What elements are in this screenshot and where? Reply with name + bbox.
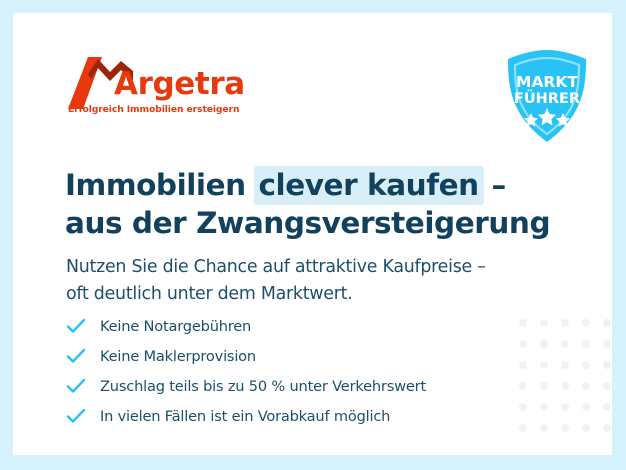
grid-dot [603,340,611,348]
banner-frame: Argetra Erfolgreich Immobilien ersteiger… [0,0,626,470]
check-icon [66,405,92,427]
headline-text-before: Immobilien [65,168,256,202]
grid-dot [582,361,590,369]
grid-dot [603,424,611,432]
check-icon [66,345,92,367]
check-icon [66,315,92,337]
badge-line-1: MARKT [516,73,578,91]
list-item: In vielen Fällen ist ein Vorabkauf mögli… [66,401,566,431]
grid-dot [603,361,611,369]
headline-text-after: – [482,168,506,202]
list-item: Keine Maklerprovision [66,341,566,371]
benefits-list: Keine Notargebühren Keine Maklerprovisio… [66,311,566,431]
grid-dot [582,340,590,348]
subheadline: Nutzen Sie die Chance auf attraktive Kau… [66,254,586,307]
list-item-label: Zuschlag teils bis zu 50 % unter Verkehr… [92,378,426,395]
grid-dot [582,382,590,390]
logo-tagline: Erfolgreich Immobilien ersteigern [68,104,239,115]
headline-line-1: Immobilien clever kaufen – [65,166,585,204]
argetra-logo[interactable]: Argetra Erfolgreich Immobilien ersteiger… [68,57,268,123]
grid-dot [603,319,611,327]
grid-dot [582,403,590,411]
badge-line-2: FÜHRER [514,89,580,107]
list-item: Zuschlag teils bis zu 50 % unter Verkehr… [66,371,566,401]
list-item-label: Keine Maklerprovision [92,348,256,365]
list-item: Keine Notargebühren [66,311,566,341]
headline-highlight: clever kaufen [254,166,484,205]
grid-dot [603,403,611,411]
grid-dot [603,382,611,390]
grid-dot [582,424,590,432]
subheadline-line-1: Nutzen Sie die Chance auf attraktive Kau… [66,254,586,280]
logo-wordmark: Argetra [114,69,245,100]
grid-dot [582,319,590,327]
page-title: Immobilien clever kaufen – aus der Zwang… [65,166,585,242]
list-item-label: Keine Notargebühren [92,318,251,335]
marktfuehrer-badge: MARKT FÜHRER [502,48,592,146]
subheadline-line-2: oft deutlich unter dem Marktwert. [66,281,586,307]
headline-line-2: aus der Zwangsversteigerung [65,204,585,242]
list-item-label: In vielen Fällen ist ein Vorabkauf mögli… [92,408,390,425]
check-icon [66,375,92,397]
banner-card: Argetra Erfolgreich Immobilien ersteiger… [13,13,612,455]
